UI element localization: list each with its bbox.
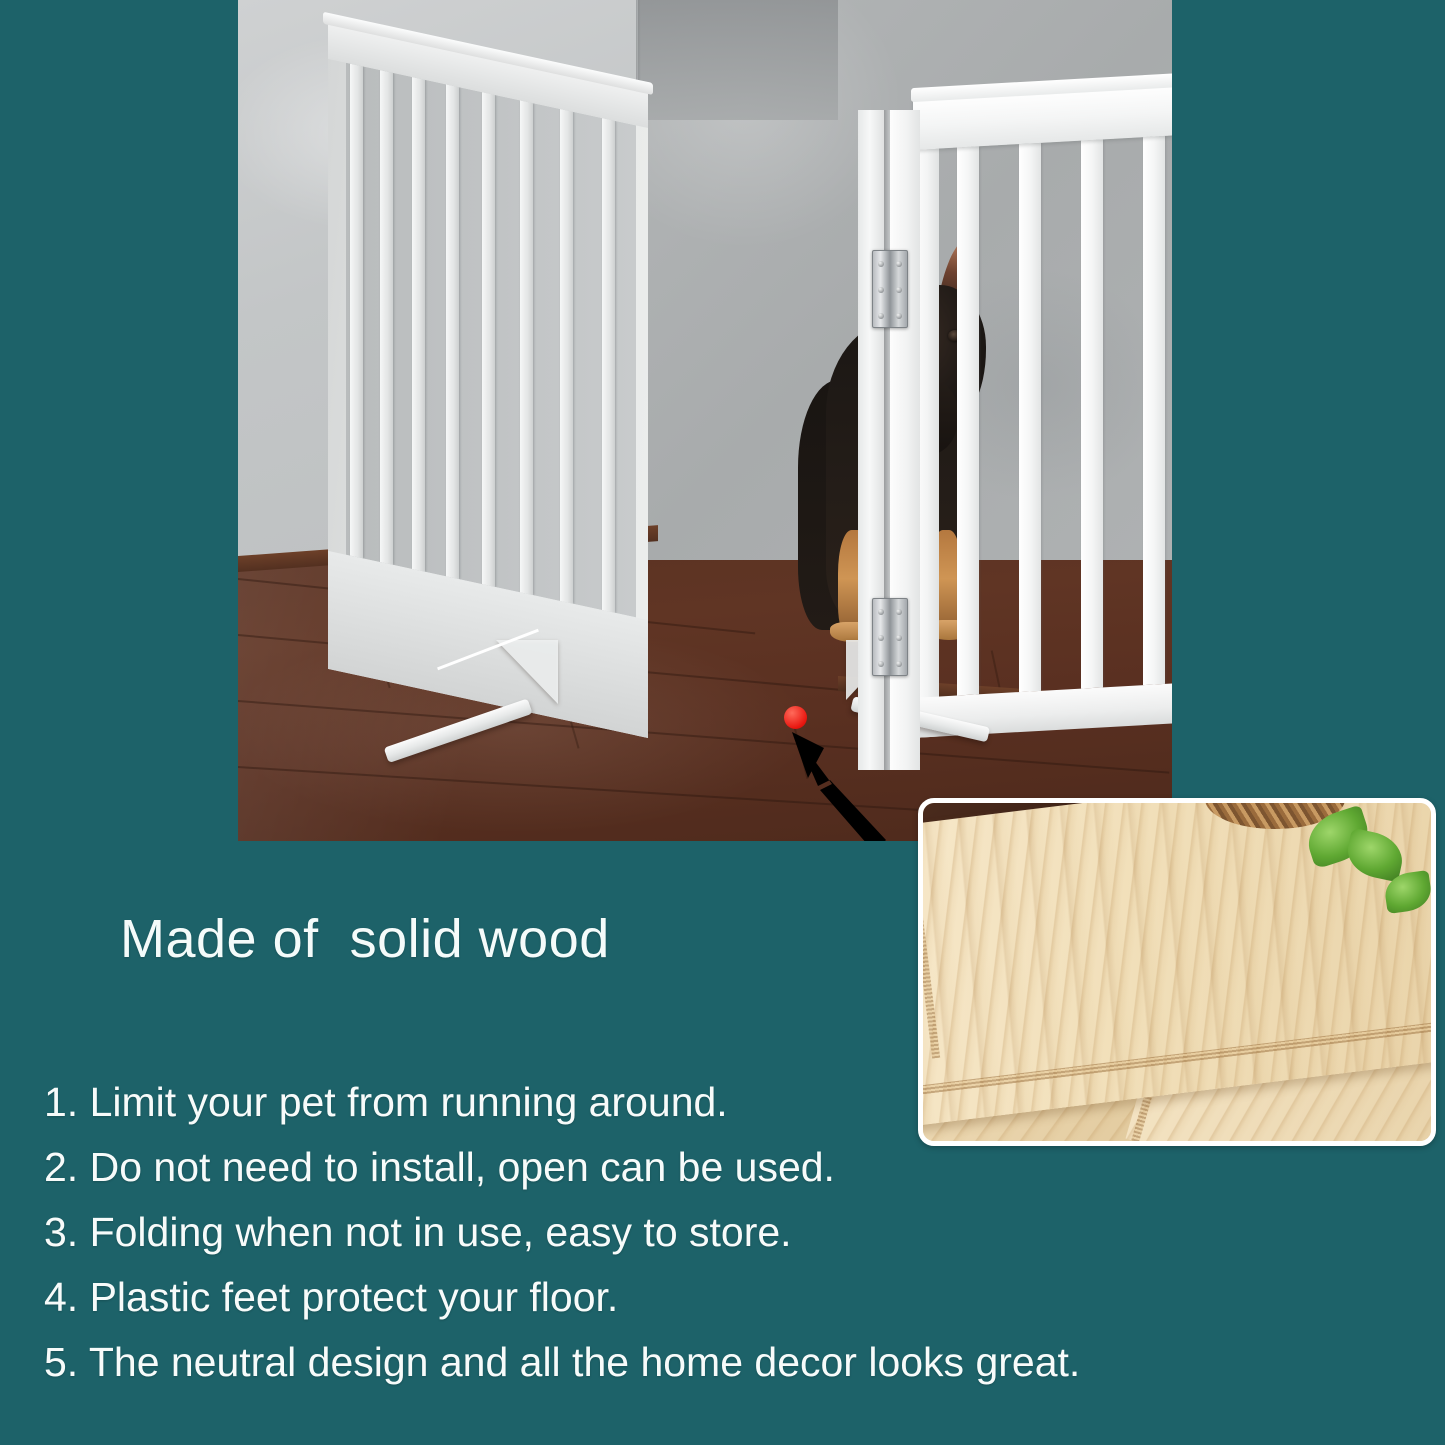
feature-list-item: 3. Folding when not in use, easy to stor… <box>44 1212 1424 1253</box>
feature-list-item: 4. Plastic feet protect your floor. <box>44 1277 1424 1318</box>
gate-hinge-post <box>858 110 920 770</box>
gate-slat <box>957 146 979 695</box>
product-infographic: Made of solid wood 1. Limit your pet fro… <box>0 0 1445 1445</box>
feature-list-item: 5. The neutral design and all the home d… <box>44 1342 1424 1383</box>
wall-shadow-top <box>638 0 838 120</box>
page-title: Made of solid wood <box>120 908 610 970</box>
red-dot-marker <box>784 706 807 729</box>
gate-slat <box>602 118 615 613</box>
gate-slat <box>380 70 393 565</box>
gate-slat <box>1019 143 1041 692</box>
hinge-lower <box>872 598 908 676</box>
hinge-upper <box>872 250 908 328</box>
hinge-screw <box>878 661 884 667</box>
gate-slat <box>482 92 495 587</box>
gate-slat <box>520 100 533 595</box>
hinge-screw <box>896 313 902 319</box>
gate-slat <box>1081 139 1103 688</box>
gate-slat <box>350 64 363 559</box>
hinge-screw <box>878 635 884 641</box>
hinge-screw <box>878 261 884 267</box>
hinge-screw <box>878 609 884 615</box>
hinge-screw <box>896 635 902 641</box>
gate-slat <box>446 84 459 579</box>
gate-slat <box>560 109 573 604</box>
gate-slat <box>412 77 425 572</box>
panel-right-body <box>913 76 1172 738</box>
hinge-screw <box>878 313 884 319</box>
gate-panel-right <box>913 76 1172 738</box>
hinge-screw <box>878 287 884 293</box>
feature-list-item: 2. Do not need to install, open can be u… <box>44 1147 1424 1188</box>
gate-panel-left <box>328 19 648 738</box>
gate-foot-left <box>378 640 558 750</box>
hinge-screw <box>896 609 902 615</box>
gate-slat <box>1143 136 1165 685</box>
wood-closeup-inset <box>918 798 1436 1146</box>
hinge-screw <box>896 287 902 293</box>
panel-left-opening <box>346 63 636 618</box>
hinge-screw <box>896 661 902 667</box>
foot-triangle-brace <box>496 640 558 704</box>
hinge-screw <box>896 261 902 267</box>
product-photo <box>238 0 1172 841</box>
